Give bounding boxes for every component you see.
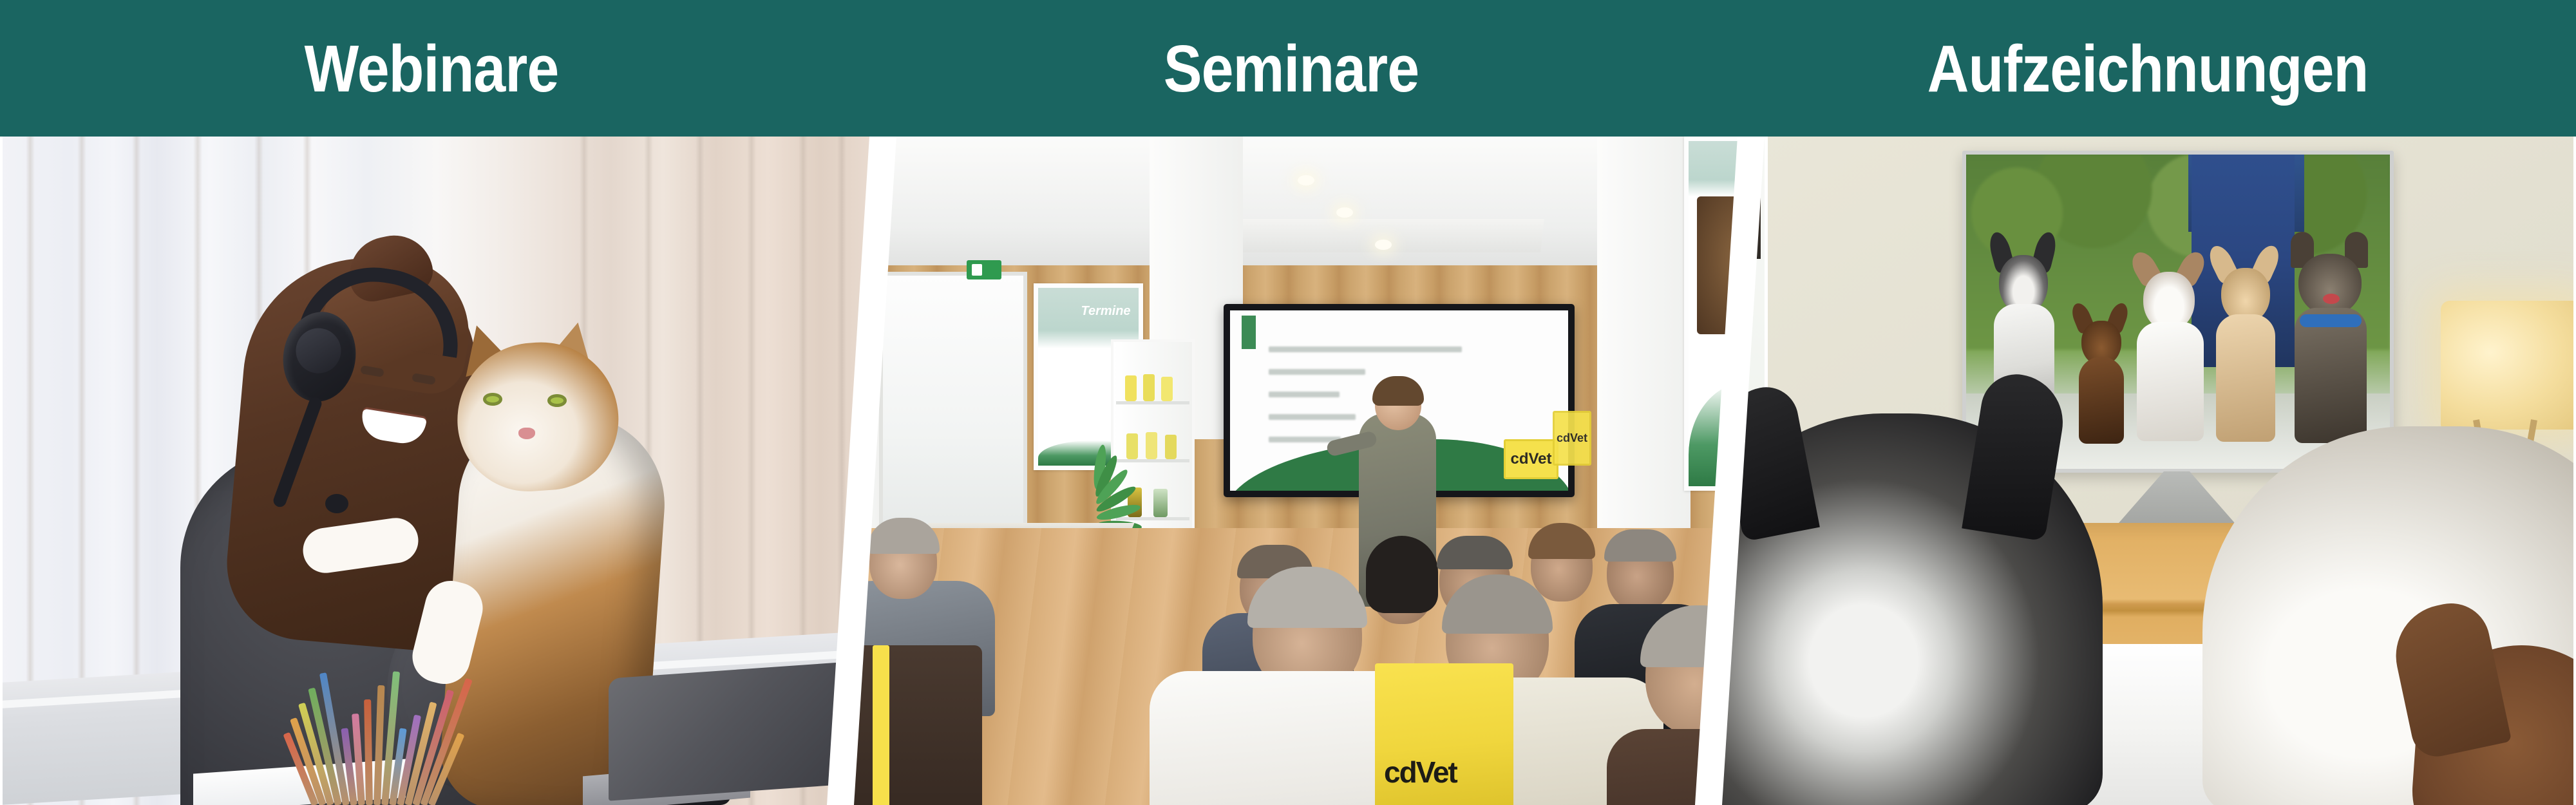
- tv-dog-head: [2298, 254, 2362, 316]
- slide-heading-line: [1269, 346, 1462, 352]
- white-column-right: [1597, 137, 1690, 581]
- laptop[interactable]: [583, 670, 860, 805]
- floor-lamp-shade: [2441, 301, 2576, 430]
- product-bottle: [1143, 374, 1155, 401]
- panel-seminare[interactable]: Termine: [847, 137, 1742, 805]
- ceiling-spotlight: [1298, 175, 1314, 185]
- pencil-cup: [303, 686, 451, 805]
- headset-mic-capsule: [325, 494, 348, 513]
- product-bottle: [1125, 375, 1137, 401]
- tv-dog-4: [2211, 245, 2280, 444]
- panel-strip: Termine: [0, 137, 2576, 805]
- tv-dog-body: [2216, 314, 2275, 442]
- glass-door[interactable]: [879, 272, 1027, 542]
- dog-brown-white-head: [2408, 638, 2576, 805]
- panel-title-aufzeichnungen[interactable]: Aufzeichnungen: [1775, 0, 2520, 137]
- product-bottle: [1153, 489, 1168, 517]
- tv-dog-3: [2130, 251, 2208, 444]
- cdvet-shelf-sign-2: cdVet: [1553, 411, 1591, 466]
- panel-aufzeichnungen[interactable]: [1716, 137, 2576, 805]
- poster-label: Termine: [1081, 304, 1130, 319]
- tv-dog-harness: [2300, 314, 2362, 327]
- exit-sign-icon: [967, 260, 1001, 279]
- product-bottle: [1161, 377, 1173, 401]
- ceiling-spotlight: [1375, 240, 1392, 250]
- chair: [847, 645, 982, 805]
- slide-sub-line: [1269, 369, 1365, 375]
- cdvet-shelf-sign: cdVet: [1504, 439, 1558, 479]
- scene-dogs-watching-tv: [1716, 137, 2576, 805]
- tv-dog-5: [2288, 232, 2372, 444]
- cat-eye-right: [547, 394, 567, 407]
- scene-woman-with-cat: [0, 137, 873, 805]
- product-bottle: [1146, 432, 1157, 459]
- poster-header-band: [1689, 141, 1742, 196]
- product-bottle: [1126, 433, 1138, 459]
- cdvet-tote-bag: cdVet: [1375, 663, 1513, 805]
- panel-title-seminare[interactable]: Seminare: [918, 0, 1663, 137]
- panel-title-webinare[interactable]: Webinare: [56, 0, 807, 137]
- chair-yellow-strap: [873, 645, 889, 805]
- header-titles: Webinare Seminare Aufzeichnungen: [0, 0, 2576, 137]
- dog-brown-white-ear: [2387, 596, 2512, 761]
- laptop-lid: [609, 661, 860, 800]
- cat-nose: [518, 428, 535, 439]
- audience-hair-long: [1366, 536, 1438, 613]
- ceiling-spotlight: [1336, 207, 1353, 218]
- tv-dog-body: [2079, 357, 2124, 444]
- cat-eye-left: [483, 393, 502, 406]
- tv-dog-body: [2295, 308, 2367, 443]
- header-band: Webinare Seminare Aufzeichnungen: [0, 0, 2576, 137]
- banner-edge-left: [0, 137, 3, 805]
- panel-webinare[interactable]: [0, 137, 873, 805]
- slide-bullet-line: [1269, 414, 1356, 420]
- cdvet-bag-logo: cdVet: [1384, 755, 1457, 790]
- product-bottle: [1165, 435, 1177, 459]
- tv-dog-2: [2072, 303, 2130, 444]
- shelf-level: [1116, 401, 1189, 404]
- tv-dog-tongue: [2323, 294, 2340, 304]
- tv-dog-body: [2137, 322, 2204, 441]
- slide-accent-bar: [1242, 316, 1256, 349]
- slide-bullet-line: [1269, 392, 1340, 397]
- scene-seminar-room: Termine: [847, 137, 1742, 805]
- colored-pencil: [364, 699, 373, 805]
- banner-edge-right: [2573, 137, 2576, 805]
- cdvet-banner: Webinare Seminare Aufzeichnungen: [0, 0, 2576, 805]
